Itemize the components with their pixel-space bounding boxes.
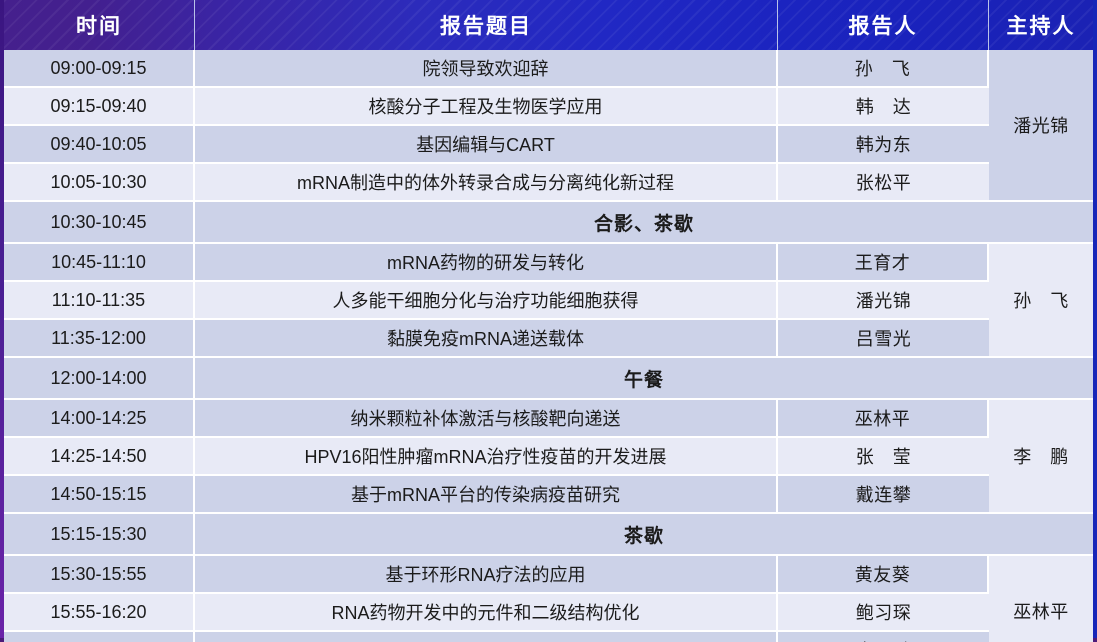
cell-time: 10:45-11:10 <box>4 244 195 282</box>
cell-speaker: 潘光锦 <box>778 282 989 320</box>
cell-host: 李 鹏 <box>989 400 1093 514</box>
cell-time: 15:55-16:20 <box>4 594 195 632</box>
cell-topic: 黏膜免疫mRNA递送载体 <box>195 320 778 358</box>
cell-topic: Developing new CAR-T cell therapy for tr… <box>195 632 778 642</box>
table-row: 09:00-09:15院领导致欢迎辞孙 飞潘光锦 <box>4 50 1093 88</box>
cell-topic: 基于mRNA平台的传染病疫苗研究 <box>195 476 778 514</box>
table-row: 16:20-16:45Developing new CAR-T cell the… <box>4 632 1093 642</box>
cell-break-label: 午餐 <box>195 358 1093 400</box>
cell-speaker: 孙 飞 <box>778 50 989 88</box>
cell-speaker: 韩为东 <box>778 126 989 164</box>
table-row: 11:35-12:00黏膜免疫mRNA递送载体吕雪光 <box>4 320 1093 358</box>
table-row: 11:10-11:35人多能干细胞分化与治疗功能细胞获得潘光锦 <box>4 282 1093 320</box>
table-body: 09:00-09:15院领导致欢迎辞孙 飞潘光锦09:15-09:40核酸分子工… <box>4 50 1093 642</box>
cell-time: 09:15-09:40 <box>4 88 195 126</box>
cell-time: 09:00-09:15 <box>4 50 195 88</box>
table-break-row: 10:30-10:45合影、茶歇 <box>4 202 1093 244</box>
table-row: 14:00-14:25纳米颗粒补体激活与核酸靶向递送巫林平李 鹏 <box>4 400 1093 438</box>
column-header-host[interactable]: 主持人 <box>989 0 1093 50</box>
cell-break-label: 合影、茶歇 <box>195 202 1093 244</box>
cell-host: 巫林平 <box>989 556 1093 642</box>
cell-time: 15:15-15:30 <box>4 514 195 556</box>
cell-topic: mRNA药物的研发与转化 <box>195 244 778 282</box>
table-row: 10:45-11:10mRNA药物的研发与转化王育才孙 飞 <box>4 244 1093 282</box>
cell-time: 11:35-12:00 <box>4 320 195 358</box>
cell-time: 12:00-14:00 <box>4 358 195 400</box>
cell-speaker: 鲍习琛 <box>778 594 989 632</box>
table-break-row: 15:15-15:30茶歇 <box>4 514 1093 556</box>
table-row: 15:30-15:55基于环形RNA疗法的应用黄友葵巫林平 <box>4 556 1093 594</box>
cell-topic: 人多能干细胞分化与治疗功能细胞获得 <box>195 282 778 320</box>
table-left-edge <box>0 0 4 638</box>
column-header-topic[interactable]: 报告题目 <box>195 0 778 50</box>
cell-speaker: 黄友葵 <box>778 556 989 594</box>
table-row: 14:25-14:50HPV16阳性肿瘤mRNA治疗性疫苗的开发进展张 莹 <box>4 438 1093 476</box>
cell-topic: RNA药物开发中的元件和二级结构优化 <box>195 594 778 632</box>
cell-topic: mRNA制造中的体外转录合成与分离纯化新过程 <box>195 164 778 202</box>
column-header-speaker[interactable]: 报告人 <box>778 0 989 50</box>
cell-speaker: 王育才 <box>778 244 989 282</box>
cell-topic: HPV16阳性肿瘤mRNA治疗性疫苗的开发进展 <box>195 438 778 476</box>
table-right-edge <box>1093 0 1097 638</box>
cell-topic: 基于环形RNA疗法的应用 <box>195 556 778 594</box>
table-row: 09:40-10:05基因编辑与CART韩为东 <box>4 126 1093 164</box>
cell-speaker: 张 莹 <box>778 438 989 476</box>
table-row: 15:55-16:20RNA药物开发中的元件和二级结构优化鲍习琛 <box>4 594 1093 632</box>
cell-speaker: 吕雪光 <box>778 320 989 358</box>
cell-time: 14:50-15:15 <box>4 476 195 514</box>
cell-time: 15:30-15:55 <box>4 556 195 594</box>
cell-speaker: 韩 达 <box>778 88 989 126</box>
cell-speaker: 巫林平 <box>778 400 989 438</box>
cell-topic: 纳米颗粒补体激活与核酸靶向递送 <box>195 400 778 438</box>
cell-speaker: 李 鹏 <box>778 632 989 642</box>
agenda-table: 时间 报告题目 报告人 主持人 09:00-09:15院领导致欢迎辞孙 飞潘光锦… <box>4 0 1093 642</box>
table-header: 时间 报告题目 报告人 主持人 <box>4 0 1093 50</box>
cell-topic: 核酸分子工程及生物医学应用 <box>195 88 778 126</box>
table-row: 09:15-09:40核酸分子工程及生物医学应用韩 达 <box>4 88 1093 126</box>
cell-speaker: 戴连攀 <box>778 476 989 514</box>
table-break-row: 12:00-14:00午餐 <box>4 358 1093 400</box>
cell-host: 潘光锦 <box>989 50 1093 202</box>
cell-time: 10:30-10:45 <box>4 202 195 244</box>
cell-break-label: 茶歇 <box>195 514 1093 556</box>
cell-time: 11:10-11:35 <box>4 282 195 320</box>
cell-time: 09:40-10:05 <box>4 126 195 164</box>
slide-canvas: 时间 报告题目 报告人 主持人 09:00-09:15院领导致欢迎辞孙 飞潘光锦… <box>0 0 1097 642</box>
cell-time: 14:25-14:50 <box>4 438 195 476</box>
cell-time: 16:20-16:45 <box>4 632 195 642</box>
cell-time: 14:00-14:25 <box>4 400 195 438</box>
column-header-time[interactable]: 时间 <box>4 0 195 50</box>
table-row: 10:05-10:30mRNA制造中的体外转录合成与分离纯化新过程张松平 <box>4 164 1093 202</box>
cell-time: 10:05-10:30 <box>4 164 195 202</box>
cell-host: 孙 飞 <box>989 244 1093 358</box>
header-row: 时间 报告题目 报告人 主持人 <box>4 0 1093 50</box>
cell-topic: 基因编辑与CART <box>195 126 778 164</box>
cell-topic: 院领导致欢迎辞 <box>195 50 778 88</box>
cell-speaker: 张松平 <box>778 164 989 202</box>
table-row: 14:50-15:15基于mRNA平台的传染病疫苗研究戴连攀 <box>4 476 1093 514</box>
